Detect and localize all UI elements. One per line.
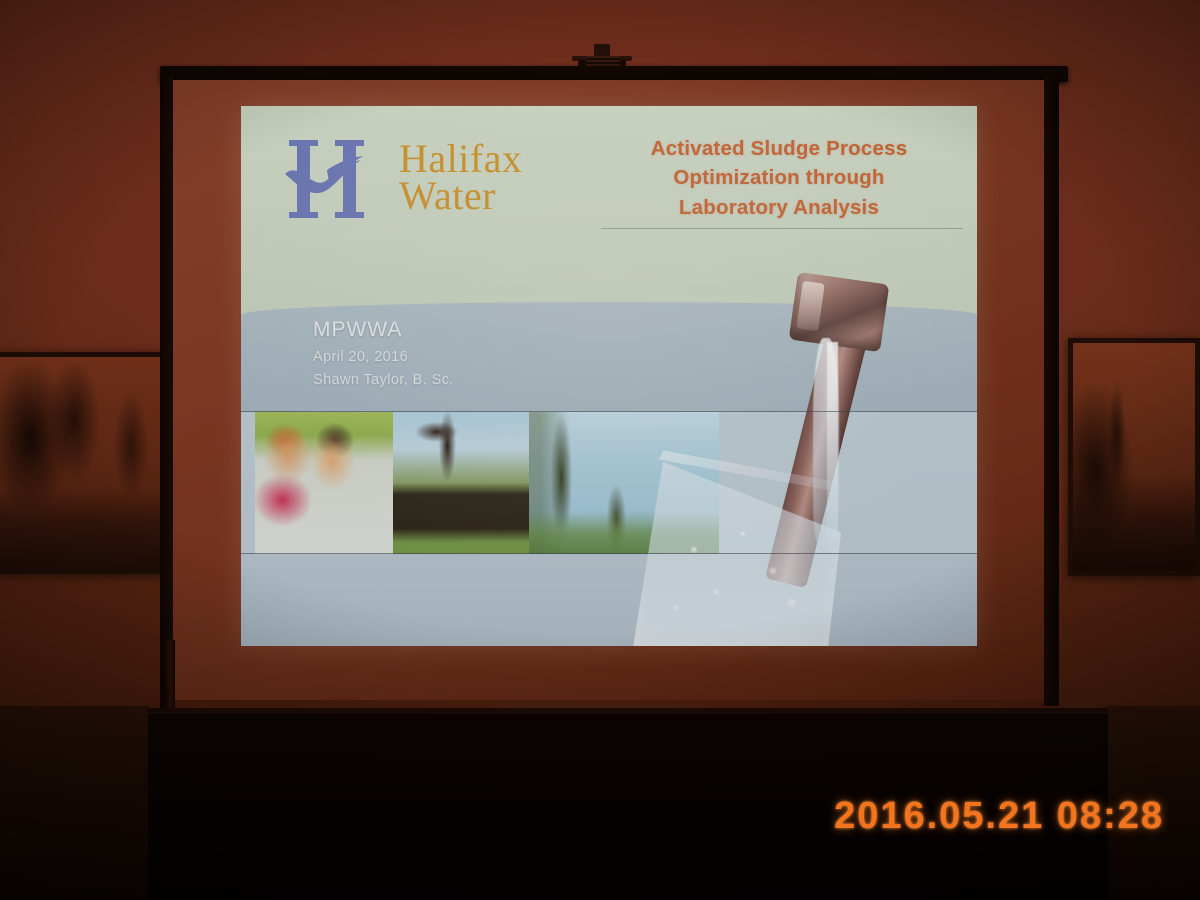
photograph-scene: Halifax Water Activated Sludge Process O… bbox=[0, 0, 1200, 900]
photo-vignette bbox=[0, 0, 1200, 900]
camera-timestamp: 2016.05.21 08:28 bbox=[834, 795, 1164, 838]
